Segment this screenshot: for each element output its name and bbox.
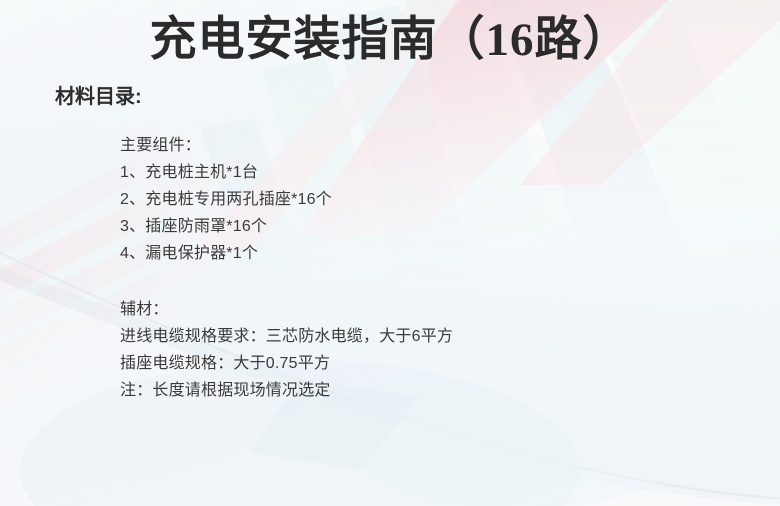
background-decoration-svg — [0, 0, 780, 506]
background-artwork — [0, 0, 780, 506]
auxiliary-materials-section: 辅材： 进线电缆规格要求：三芯防水电缆，大于6平方 插座电缆规格：大于0.75平… — [120, 296, 453, 404]
materials-list-heading: 材料目录: — [55, 84, 142, 110]
auxiliary-line-2: 插座电缆规格：大于0.75平方 — [120, 350, 453, 377]
slide-title: 充电安装指南（16路） — [0, 11, 780, 69]
auxiliary-line-3: 注：长度请根据现场情况选定 — [120, 377, 453, 404]
slide-background — [0, 0, 780, 506]
presentation-slide: 充电安装指南（16路） 材料目录: 主要组件： 1、充电桩主机*1台 2、充电桩… — [0, 0, 780, 506]
component-item-3: 3、插座防雨罩*16个 — [120, 213, 332, 240]
components-heading: 主要组件： — [120, 132, 332, 159]
component-item-2: 2、充电桩专用两孔插座*16个 — [120, 186, 332, 213]
component-item-1: 1、充电桩主机*1台 — [120, 159, 332, 186]
component-item-4: 4、漏电保护器*1个 — [120, 240, 332, 267]
components-section: 主要组件： 1、充电桩主机*1台 2、充电桩专用两孔插座*16个 3、插座防雨罩… — [120, 132, 332, 267]
auxiliary-heading: 辅材： — [120, 296, 453, 323]
auxiliary-line-1: 进线电缆规格要求：三芯防水电缆，大于6平方 — [120, 323, 453, 350]
